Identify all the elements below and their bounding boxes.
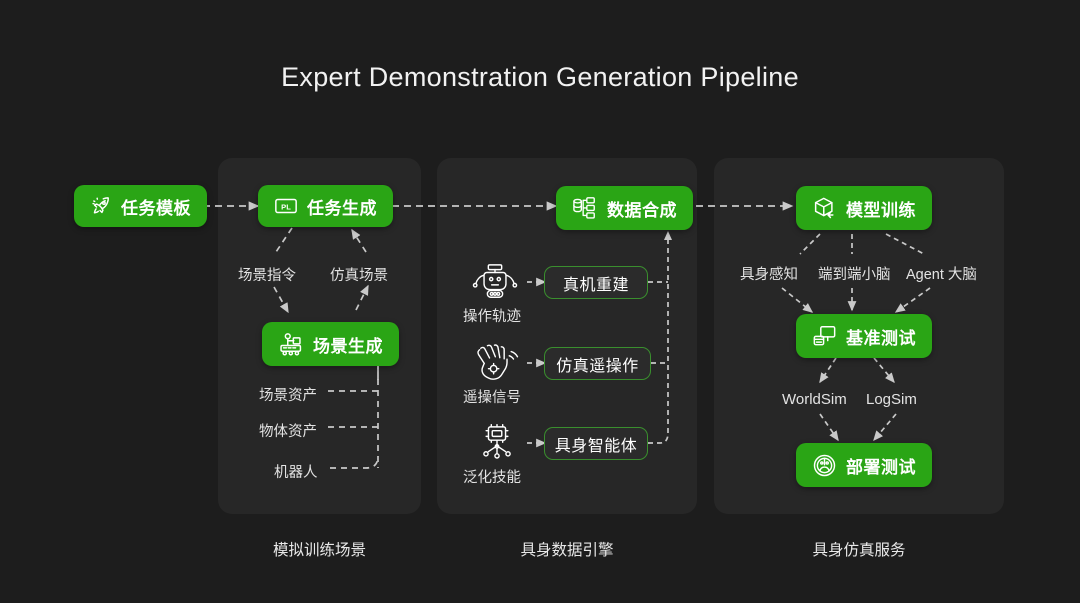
- box-label: 真机重建: [563, 271, 629, 295]
- training-input-label-cerebellum: 端到端小脑: [818, 263, 891, 284]
- sim-engine-label-logsim: LogSim: [866, 391, 917, 408]
- left-input-label-sim-scene: 仿真场景: [330, 264, 388, 285]
- row-source-label-2: 遥操信号: [463, 386, 521, 407]
- training-input-label-agent-brain: Agent 大脑: [906, 263, 977, 284]
- node-label: 模型训练: [846, 196, 916, 221]
- node-label: 部署测试: [846, 453, 916, 478]
- box-label: 仿真遥操作: [556, 352, 639, 376]
- node-model-training[interactable]: 模型训练: [796, 186, 932, 230]
- box-embodied-agent[interactable]: 具身智能体: [544, 427, 648, 460]
- chip-network-icon: [474, 424, 520, 462]
- left-asset-label-object: 物体资产: [259, 420, 317, 441]
- robot-icon: [471, 262, 519, 302]
- node-label: 任务生成: [307, 194, 377, 219]
- globe-radar-icon: [812, 453, 837, 478]
- box-sim-teleoperation[interactable]: 仿真遥操作: [544, 347, 651, 380]
- cube-arrow-icon: [812, 196, 837, 220]
- svg-text:PL: PL: [281, 202, 291, 211]
- robot-arm-icon: [278, 332, 304, 356]
- left-asset-label-robot: 机器人: [274, 461, 318, 482]
- monitor-device-icon: [812, 324, 837, 348]
- node-deployment-test[interactable]: 部署测试: [796, 443, 932, 487]
- left-input-label-scene-instruction: 场景指令: [238, 264, 296, 285]
- left-asset-label-scene: 场景资产: [259, 384, 317, 405]
- box-label: 具身智能体: [555, 432, 638, 456]
- glove-icon: [473, 344, 519, 382]
- training-input-label-perception: 具身感知: [740, 263, 798, 284]
- node-label: 基准测试: [846, 324, 916, 349]
- rocket-icon: [90, 195, 112, 217]
- panel-caption-data-engine: 具身数据引擎: [437, 538, 697, 560]
- panel-caption-sim-service: 具身仿真服务: [714, 538, 1004, 560]
- node-benchmark-test[interactable]: 基准测试: [796, 314, 932, 358]
- page-title: Expert Demonstration Generation Pipeline: [0, 62, 1080, 93]
- node-data-synthesis[interactable]: 数据合成: [556, 186, 693, 230]
- node-task-template[interactable]: 任务模板: [74, 185, 207, 227]
- row-source-label-3: 泛化技能: [463, 466, 521, 487]
- pl-badge-icon: PL: [274, 196, 298, 216]
- panel-caption-simulation: 模拟训练场景: [218, 538, 421, 560]
- node-label: 任务模板: [121, 194, 191, 219]
- row-source-label-1: 操作轨迹: [463, 305, 521, 326]
- box-real-machine-reconstruction[interactable]: 真机重建: [544, 266, 648, 299]
- node-label: 场景生成: [313, 332, 383, 357]
- node-label: 数据合成: [607, 196, 677, 221]
- sim-engine-label-worldsim: WorldSim: [782, 391, 847, 408]
- node-task-generation[interactable]: PL 任务生成: [258, 185, 393, 227]
- data-sync-icon: [572, 196, 598, 220]
- diagram-canvas: Expert Demonstration Generation Pipeline: [0, 0, 1080, 603]
- node-scene-generation[interactable]: 场景生成: [262, 322, 399, 366]
